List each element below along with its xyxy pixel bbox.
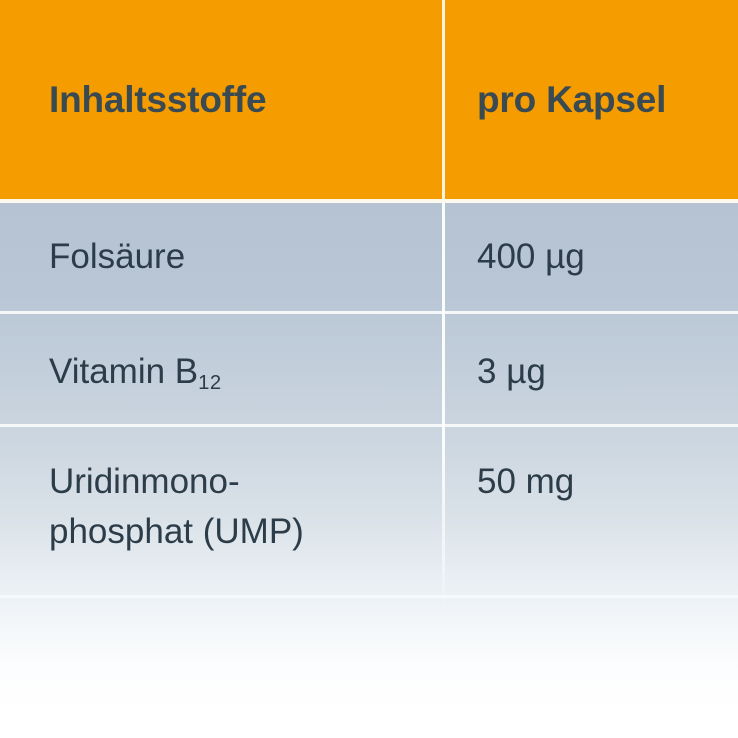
ingredient-name-text: Uridinmono- phosphat (UMP) <box>49 462 304 551</box>
ingredient-amount: 3 µg <box>477 347 717 397</box>
table-row: Vitamin B12 3 µg <box>0 314 738 424</box>
table-row: Folsäure 400 µg <box>0 203 738 311</box>
row-divider <box>0 424 738 427</box>
row-divider <box>0 595 738 598</box>
ingredient-name-subscript: 12 <box>198 372 222 394</box>
ingredient-name-text: Vitamin B <box>49 352 198 391</box>
ingredient-name: Vitamin B12 <box>49 347 429 402</box>
column-header-per-capsule: pro Kapsel <box>477 0 666 199</box>
ingredient-name: Uridinmono- phosphat (UMP) <box>49 457 429 557</box>
row-divider <box>0 311 738 314</box>
table-row: Uridinmono- phosphat (UMP) 50 mg <box>0 427 738 595</box>
ingredient-name: Folsäure <box>49 232 429 282</box>
ingredient-amount: 400 µg <box>477 232 717 282</box>
column-divider-header <box>442 0 445 199</box>
ingredient-amount: 50 mg <box>477 457 717 507</box>
ingredient-name-text: Folsäure <box>49 237 185 276</box>
column-header-ingredients: Inhaltsstoffe <box>49 0 266 199</box>
ingredients-table: Inhaltsstoffe pro Kapsel Folsäure 400 µg… <box>0 0 738 738</box>
